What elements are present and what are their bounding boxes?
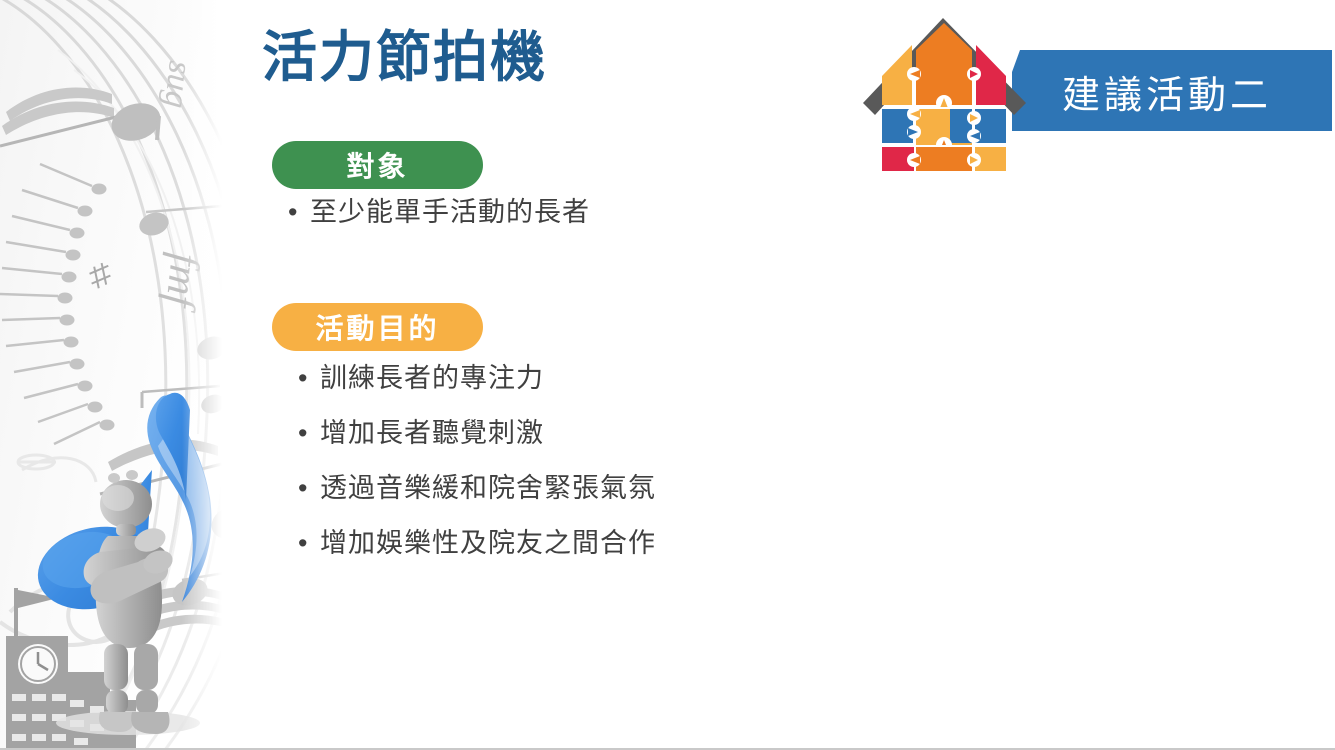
list-item: • 至少能單手活動的長者 xyxy=(288,199,590,226)
bullet-icon: • xyxy=(298,365,320,392)
left-decoration-panel: sug fmf xyxy=(0,0,222,750)
list-item: • 訓練長者的專注力 xyxy=(298,365,656,392)
bullet-icon: • xyxy=(298,475,320,502)
list-item-label: 至少能單手活動的長者 xyxy=(310,199,590,226)
list-item-label: 訓練長者的專注力 xyxy=(320,365,544,392)
purpose-bullet-list: • 訓練長者的專注力 • 增加長者聽覺刺激 • 透過音樂緩和院舍緊張氣氛 • 增… xyxy=(298,365,656,585)
puzzle-house-logo-icon xyxy=(858,8,1033,171)
bullet-icon: • xyxy=(298,530,320,557)
badge-purpose: 活動目的 xyxy=(272,303,483,351)
list-item: • 增加娛樂性及院友之間合作 xyxy=(298,530,656,557)
puzzle-piece-bot-center xyxy=(916,147,972,171)
badge-audience: 對象 xyxy=(272,141,483,189)
panel-edge-fade xyxy=(182,0,222,750)
list-item-label: 增加長者聽覺刺激 xyxy=(320,420,544,447)
list-item: • 增加長者聽覺刺激 xyxy=(298,420,656,447)
audience-bullet-list: • 至少能單手活動的長者 xyxy=(288,199,590,254)
page-title: 活力節拍機 xyxy=(262,26,547,89)
list-item-label: 透過音樂緩和院舍緊張氣氛 xyxy=(320,475,656,502)
slide-canvas: sug fmf xyxy=(0,0,1335,750)
bullet-icon: • xyxy=(288,199,310,226)
puzzle-piece-top-center xyxy=(916,23,972,105)
activity-banner-label: 建議活動二 xyxy=(1062,62,1312,120)
list-item: • 透過音樂緩和院舍緊張氣氛 xyxy=(298,475,656,502)
list-item-label: 增加娛樂性及院友之間合作 xyxy=(320,530,656,557)
bullet-icon: • xyxy=(298,420,320,447)
